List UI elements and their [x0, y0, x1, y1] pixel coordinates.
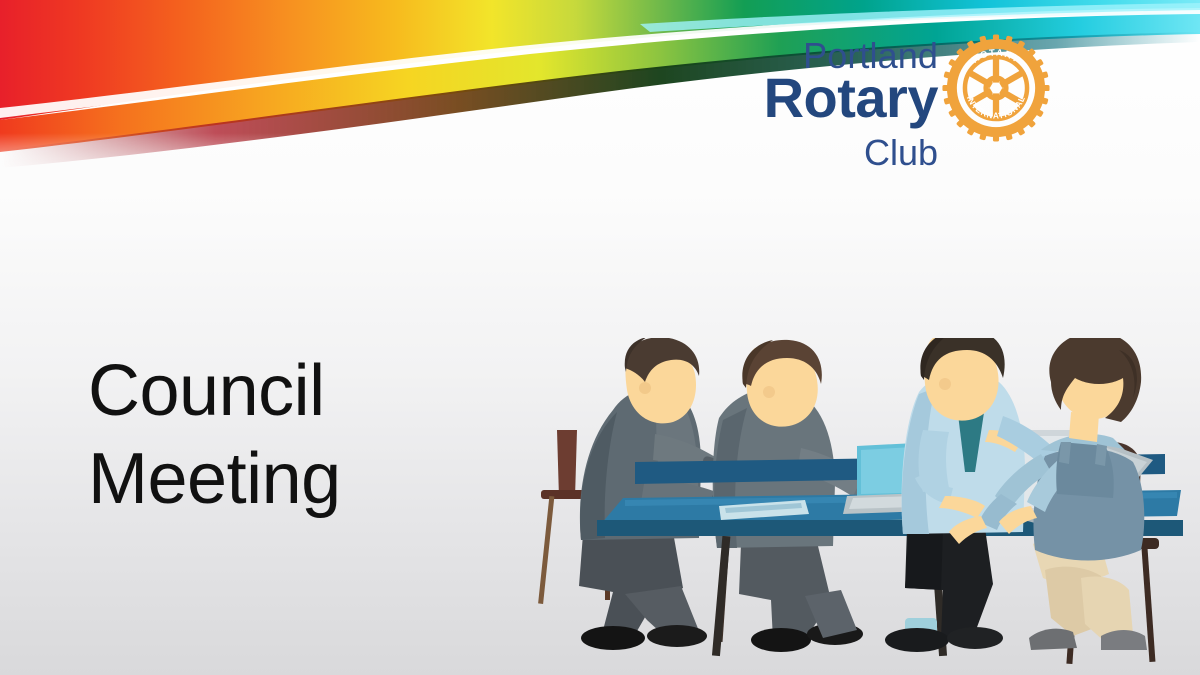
logo-line-club: Club — [864, 135, 938, 171]
title-line-1: Council — [88, 348, 518, 436]
slide-canvas: Portland Rotary Club — [0, 0, 1200, 675]
portland-rotary-club-logo: Portland Rotary Club — [770, 18, 1050, 168]
meeting-illustration — [505, 338, 1200, 675]
title-line-2: Meeting — [88, 436, 518, 524]
rotary-wheel-icon: ROTARY INTERNATIONAL — [942, 30, 1050, 146]
logo-line-rotary: Rotary — [764, 70, 938, 126]
slide-title: Council Meeting — [88, 348, 518, 524]
